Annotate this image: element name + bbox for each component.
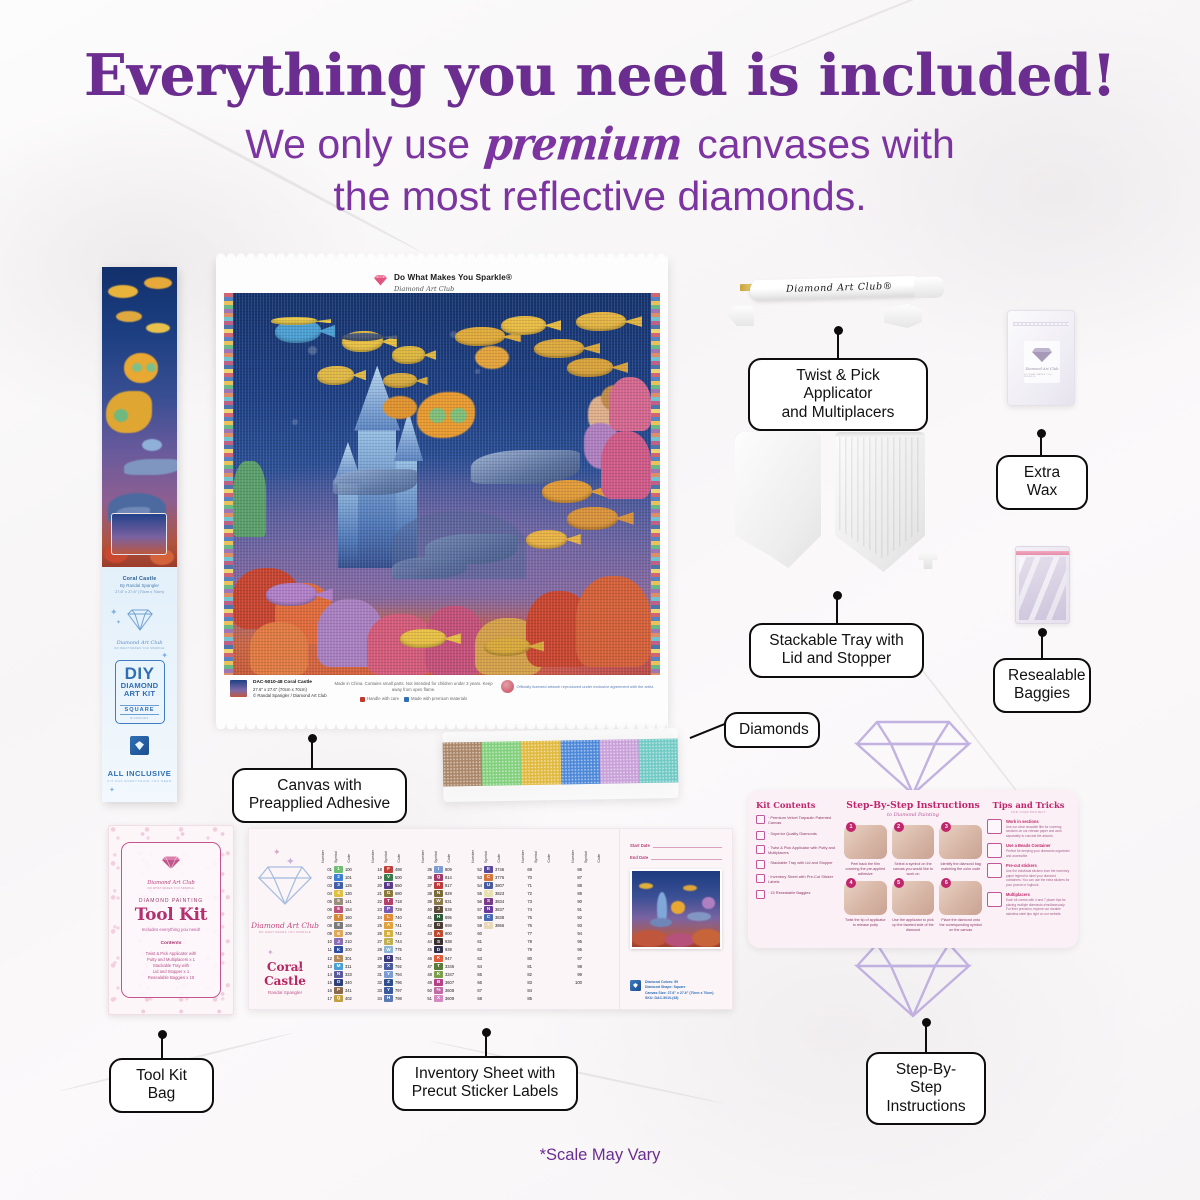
- table-row: 65: [471, 970, 513, 978]
- cell-number: 45: [421, 947, 432, 952]
- canvas-footer-info: DAC-5010-48 Coral Castle 27.6" x 27.6" (…: [224, 675, 660, 717]
- cell-symbol: K: [334, 946, 343, 953]
- cell-number: 38: [421, 891, 432, 896]
- cell-code: 3347: [445, 972, 461, 977]
- diamond-pack: [442, 731, 482, 802]
- inventory-table-block: NumberSymbolCode011100022101033126044130…: [321, 841, 363, 1009]
- kit-contents-column: Kit Contents · Premium Velvet Tarpaulin …: [756, 800, 844, 940]
- cell-symbol: J: [334, 938, 343, 945]
- canvas-brand: Diamond Art Club: [394, 285, 512, 293]
- premium-emphasis: premium: [478, 116, 688, 173]
- cell-symbol: [484, 955, 493, 962]
- kit-contents-item: · Twist & Pick Applicator with Putty and…: [756, 845, 840, 856]
- step-caption: Identify the diamond bag matching the co…: [939, 862, 982, 872]
- kit-contents-item: · Superior Quality Diamonds: [756, 831, 840, 840]
- cell-number: 62: [471, 947, 482, 952]
- canvas-sku-title: DAC-5010-48 Coral Castle: [253, 680, 327, 687]
- diamond-beads: [521, 740, 561, 787]
- kit-box-brand-logo: [120, 607, 160, 638]
- instruction-step: 6Place the diamond onto the correspondin…: [939, 881, 982, 933]
- cell-code: 798: [395, 996, 411, 1001]
- cell-code: 301: [345, 956, 361, 961]
- diamond-beads: [560, 739, 600, 786]
- column-header: Symbol: [434, 851, 445, 863]
- cell-number: 04: [321, 891, 332, 896]
- cell-number: 43: [421, 931, 432, 936]
- diamond-pack: [521, 730, 561, 801]
- column-header: Code: [597, 854, 613, 863]
- cell-code: 740: [395, 915, 411, 920]
- cell-symbol: [584, 866, 593, 873]
- kit-box-packaging: ✦ ✦ ✦ ✦ Coral Castle By Randal Spangler …: [102, 267, 177, 802]
- cell-number: 87: [571, 875, 582, 880]
- cell-code: 130: [345, 891, 361, 896]
- canvas-badge-2: Made with premium materials: [404, 696, 467, 702]
- table-row: 85: [521, 995, 563, 1003]
- table-row: 23P729: [371, 905, 413, 913]
- cell-code: 939: [445, 947, 461, 952]
- kit-item-label: · 15 Resealable Baggies: [768, 890, 810, 895]
- table-row: 68: [471, 995, 513, 1003]
- table-row: 50%3608: [421, 986, 463, 994]
- cell-number: 19: [371, 875, 382, 880]
- canvas-notice: Made in China. Contains small parts. Not…: [333, 681, 495, 694]
- cell-number: 26: [371, 931, 382, 936]
- cell-number: 16: [321, 988, 332, 993]
- cell-number: 42: [421, 923, 432, 928]
- table-row: 18F498: [371, 865, 413, 873]
- table-row: 71: [521, 881, 563, 889]
- tip-item: Pre-cut stickersUse the individual stick…: [987, 863, 1070, 887]
- end-date-row: End Date: [630, 853, 722, 860]
- cell-symbol: D: [434, 946, 443, 953]
- kit-item-icon: [756, 890, 765, 899]
- tool-kit-contents-line: Resealable Baggies x 15: [122, 975, 220, 981]
- table-row: 10J210: [321, 938, 363, 946]
- step-number: 5: [894, 878, 904, 888]
- column-header: Symbol: [534, 851, 545, 863]
- cell-code: 796: [395, 980, 411, 985]
- cell-symbol: P: [384, 906, 393, 913]
- inventory-table-header: NumberSymbolCode: [521, 841, 563, 863]
- multiplacer-right: [884, 304, 922, 328]
- instruction-step: 3Identify the diamond bag matching the c…: [939, 825, 982, 877]
- table-row: 76: [521, 922, 563, 930]
- table-row: 49B3607: [421, 978, 463, 986]
- kit-box-artist: By Randal Spangler: [102, 583, 177, 588]
- table-row: 35I809: [421, 865, 463, 873]
- cell-symbol: [534, 874, 543, 881]
- tip-body: Use the individual stickers from the inv…: [1006, 869, 1070, 887]
- table-row: 46K947: [421, 954, 463, 962]
- table-row: 44S938: [421, 938, 463, 946]
- cell-code: 839: [445, 907, 461, 912]
- cell-number: 84: [521, 988, 532, 993]
- cell-symbol: I: [434, 866, 443, 873]
- table-row: 69: [521, 865, 563, 873]
- tool-kit-contents-heading: Contents: [122, 941, 220, 946]
- cell-code: 791: [395, 956, 411, 961]
- cell-code: 154: [345, 907, 361, 912]
- cell-number: 95: [571, 939, 582, 944]
- footer-note: *Scale May Vary: [0, 1146, 1200, 1165]
- cell-symbol: [534, 955, 543, 962]
- cell-symbol: W: [434, 898, 443, 905]
- table-row: 16P341: [321, 986, 363, 994]
- cell-number: 27: [371, 939, 382, 944]
- cell-number: 22: [371, 899, 382, 904]
- table-row: 055141: [321, 897, 363, 905]
- canvas-footer-thumbnail: [230, 680, 247, 697]
- headline-subtitle-line-2: the most reflective diamonds.: [0, 170, 1200, 222]
- kit-item-label: · Stackable Tray with Lid and Stopper: [768, 860, 833, 865]
- cell-number: 75: [521, 915, 532, 920]
- cell-number: 47: [421, 964, 432, 969]
- cell-symbol: 6: [334, 906, 343, 913]
- cell-symbol: [584, 938, 593, 945]
- cell-symbol: Y: [384, 971, 393, 978]
- diamond-baggies-strip: [442, 728, 678, 802]
- cell-symbol: N: [434, 890, 443, 897]
- cell-symbol: [534, 898, 543, 905]
- tip-title: Multiplacers: [1006, 892, 1070, 897]
- step-number: 1: [846, 822, 856, 832]
- cell-symbol: [534, 938, 543, 945]
- diamond-pack: [638, 728, 678, 799]
- table-row: 93: [571, 922, 613, 930]
- kit-box-title: Coral Castle: [102, 576, 177, 582]
- table-row: 28W775: [371, 946, 413, 954]
- cell-number: 55: [471, 891, 482, 896]
- inventory-sheet-cover: ✦ ✦ ✦ ✦ Diamond Art Club DO WHAT MAKES Y…: [249, 829, 321, 1009]
- table-row: 75: [521, 914, 563, 922]
- inventory-table-block: NumberSymbolCode35I80936Q81437R81738N829…: [421, 841, 463, 1009]
- table-row: 87: [571, 873, 613, 881]
- cell-number: 17: [321, 996, 332, 1001]
- tip-item: Use a Beads ContainerPerfect for keeping…: [987, 843, 1070, 858]
- cell-symbol: [534, 946, 543, 953]
- headline-block: Everything you need is included! We only…: [0, 46, 1200, 223]
- cell-symbol: A: [434, 930, 443, 937]
- tip-body: Use our clear reusable film for covering…: [1006, 825, 1070, 838]
- cell-number: 69: [521, 867, 532, 872]
- applicator-body: Diamond Art Club®: [750, 276, 922, 301]
- step-by-step-instructions-sheet: Kit Contents · Premium Velvet Tarpaulin …: [748, 718, 1078, 1018]
- subtitle-text-before: We only use: [245, 121, 470, 167]
- table-row: 77: [521, 930, 563, 938]
- cell-code: 797: [395, 988, 411, 993]
- cell-code: 3866: [495, 923, 511, 928]
- column-header: Code: [347, 854, 363, 863]
- canvas-scallop-bottom: [216, 720, 668, 729]
- callout-stackable-tray: Stackable Tray with Lid and Stopper: [749, 623, 924, 678]
- inventory-table-block: NumberSymbolCode697071727374757677787980…: [521, 841, 563, 1009]
- cell-symbol: O: [384, 955, 393, 962]
- table-row: 91: [571, 905, 613, 913]
- leader-stackable-tray: [836, 595, 838, 625]
- cell-number: 67: [471, 988, 482, 993]
- cell-symbol: [584, 955, 593, 962]
- kit-contents-item: · Inventory Sheet with Pre-Cut Sticker L…: [756, 874, 840, 885]
- cell-symbol: A: [384, 922, 393, 929]
- cell-symbol: C: [384, 938, 393, 945]
- tip-title: Use a Beads Container: [1006, 843, 1070, 848]
- table-row: 52E3746: [471, 865, 513, 873]
- table-row: 54U3807: [471, 881, 513, 889]
- kit-contents-item: · Stackable Tray with Lid and Stopper: [756, 860, 840, 869]
- table-row: 12L301: [321, 954, 363, 962]
- cell-code: 895: [445, 915, 461, 920]
- cell-symbol: U: [484, 882, 493, 889]
- cell-symbol: X: [434, 995, 443, 1002]
- table-row: 22T718: [371, 897, 413, 905]
- table-row: 58C3838: [471, 914, 513, 922]
- cell-symbol: C: [484, 914, 493, 921]
- square-drill-chip: [130, 736, 149, 755]
- cell-number: 96: [571, 947, 582, 952]
- diamond-icon: [254, 863, 316, 912]
- cell-symbol: [584, 971, 593, 978]
- cell-number: 48: [421, 972, 432, 977]
- cell-number: 01: [321, 867, 332, 872]
- cell-code: 3837: [495, 907, 511, 912]
- cell-number: 65: [471, 972, 482, 977]
- cell-number: 97: [571, 956, 582, 961]
- tip-icon: [987, 863, 1002, 878]
- cell-code: 817: [445, 883, 461, 888]
- inventory-meta-line: Canvas Size: 27.6" x 27.6" (70cm x 70cm): [645, 991, 714, 996]
- cell-number: 33: [371, 988, 382, 993]
- baggie-zipper: [1016, 551, 1069, 555]
- inventory-table-header: NumberSymbolCode: [571, 841, 613, 863]
- kit-item-label: · Inventory Sheet with Pre-Cut Sticker L…: [768, 874, 840, 885]
- table-row: 62: [471, 946, 513, 954]
- instruction-step: 2Select a symbol on the canvas you would…: [892, 825, 935, 877]
- cell-code: 814: [445, 875, 461, 880]
- canvas-tagline: Do What Makes You Sparkle®: [394, 273, 512, 282]
- cell-symbol: [584, 979, 593, 986]
- cell-symbol: [534, 882, 543, 889]
- cell-number: 35: [421, 867, 432, 872]
- cell-symbol: X: [384, 963, 393, 970]
- leader-resealable-baggies: [1041, 632, 1043, 660]
- canvas-artist-credit: © Randal Spangler / Diamond Art Club: [253, 693, 327, 699]
- table-row: 64: [471, 962, 513, 970]
- table-row: 81: [521, 962, 563, 970]
- inventory-symbol-table: NumberSymbolCode011100022101033126044130…: [321, 829, 619, 1009]
- start-date-field[interactable]: [653, 841, 722, 848]
- cell-symbol: +: [484, 922, 493, 929]
- table-row: 60: [471, 930, 513, 938]
- callout-resealable-baggies: Resealable Baggies: [993, 658, 1091, 713]
- cell-code: 3807: [495, 883, 511, 888]
- cell-code: 729: [395, 907, 411, 912]
- cell-symbol: [484, 987, 493, 994]
- callout-tool-kit-bag: Tool Kit Bag: [109, 1058, 214, 1113]
- cell-symbol: Y: [384, 987, 393, 994]
- cell-number: 76: [521, 923, 532, 928]
- cell-code: 340: [345, 980, 361, 985]
- cell-number: 14: [321, 972, 332, 977]
- tool-kit-brand-tagline: DO WHAT MAKES YOU SPARKLE: [122, 887, 220, 890]
- cell-symbol: [534, 930, 543, 937]
- wax-pouch-zipper: [1013, 322, 1069, 326]
- page-title: Everything you need is included!: [0, 46, 1200, 106]
- cell-number: 28: [371, 947, 382, 952]
- table-row: 96: [571, 946, 613, 954]
- cell-code: 402: [345, 996, 361, 1001]
- start-date-label: Start Date: [630, 843, 650, 848]
- cell-symbol: [534, 995, 543, 1002]
- stackable-tray-group: [735, 432, 945, 582]
- cell-code: 333: [345, 972, 361, 977]
- step-caption: Peel back the film covering the pre-appl…: [844, 862, 887, 877]
- cell-number: 07: [321, 915, 332, 920]
- table-row: 022101: [321, 873, 363, 881]
- cell-number: 80: [521, 956, 532, 961]
- cell-number: 23: [371, 907, 382, 912]
- cell-number: 24: [371, 915, 382, 920]
- table-row: 27C744: [371, 938, 413, 946]
- cell-number: 44: [421, 939, 432, 944]
- tool-kit-contents-list: Twist & Pick Applicator withPutty and Mu…: [122, 951, 220, 981]
- cell-symbol: L: [334, 955, 343, 962]
- cell-code: 498: [395, 867, 411, 872]
- table-row: 33Y797: [371, 986, 413, 994]
- column-header: Number: [521, 850, 532, 863]
- table-row: 92: [571, 914, 613, 922]
- cell-number: 06: [321, 907, 332, 912]
- cell-code: 718: [395, 899, 411, 904]
- cell-symbol: [534, 866, 543, 873]
- cell-number: 100: [571, 980, 582, 985]
- cell-number: 66: [471, 980, 482, 985]
- cell-code: 160: [345, 915, 361, 920]
- table-row: 011100: [321, 865, 363, 873]
- inventory-table-block: NumberSymbolCode868788899091929394959697…: [571, 841, 613, 1009]
- cell-code: 550: [395, 883, 411, 888]
- cell-number: 79: [521, 947, 532, 952]
- cell-number: 59: [471, 923, 482, 928]
- cell-code: 744: [395, 939, 411, 944]
- diamond-icon: [160, 855, 182, 875]
- cell-symbol: [534, 922, 543, 929]
- tray-lid: [735, 432, 821, 568]
- table-row: 99: [571, 970, 613, 978]
- table-row: 94: [571, 930, 613, 938]
- table-row: 53C3776: [471, 873, 513, 881]
- inventory-meta-block: Diamond Colors: 59Diamond Shape: SquareC…: [630, 980, 714, 1001]
- cell-code: 680: [395, 891, 411, 896]
- cell-symbol: B: [384, 930, 393, 937]
- cell-symbol: [584, 946, 593, 953]
- cell-symbol: [534, 979, 543, 986]
- step-caption: Use the applicator to pick up the facete…: [892, 918, 935, 933]
- cell-code: 938: [445, 939, 461, 944]
- table-row: 21G680: [371, 889, 413, 897]
- end-date-field[interactable]: [651, 853, 722, 860]
- cell-symbol: [484, 930, 493, 937]
- table-row: 89: [571, 889, 613, 897]
- all-inclusive-label: ALL INCLUSIVE: [102, 769, 177, 778]
- cell-number: 56: [471, 899, 482, 904]
- tool-kit-bag-label: Diamond Art Club DO WHAT MAKES YOU SPARK…: [121, 842, 221, 998]
- cell-number: 83: [521, 980, 532, 985]
- cell-symbol: C: [484, 874, 493, 881]
- cell-symbol: F: [384, 866, 393, 873]
- tip-title: Pre-cut stickers: [1006, 863, 1070, 868]
- diamond-pack: [599, 729, 639, 800]
- table-row: 25A741: [371, 922, 413, 930]
- cell-number: 61: [471, 939, 482, 944]
- callout-canvas: Canvas with Preapplied Adhesive: [232, 768, 407, 823]
- kit-contents-heading: Kit Contents: [756, 800, 840, 810]
- table-row: 67: [471, 986, 513, 994]
- diamond-painting-canvas: Do What Makes You Sparkle® Diamond Art C…: [216, 258, 668, 724]
- canvas-underwater-scene: [233, 293, 651, 675]
- table-row: 95: [571, 938, 613, 946]
- table-row: 48K3347: [421, 970, 463, 978]
- table-row: 24L740: [371, 914, 413, 922]
- instruction-step: 1Peel back the film covering the pre-app…: [844, 825, 887, 877]
- tray-stopper: [918, 552, 938, 569]
- diamond-icon: [120, 607, 160, 633]
- cell-symbol: [584, 922, 593, 929]
- table-row: 14N333: [321, 970, 363, 978]
- headline-subtitle-line-1: We only use premium canvases with: [0, 118, 1200, 170]
- cell-number: 21: [371, 891, 382, 896]
- steps-subheading: to Diamond Painting: [844, 812, 982, 818]
- cell-number: 92: [571, 915, 582, 920]
- cell-code: 300: [345, 947, 361, 952]
- canvas-color-key-left: [224, 293, 233, 675]
- table-row: 29O791: [371, 954, 413, 962]
- table-row: 38N829: [421, 889, 463, 897]
- leader-canvas: [311, 738, 313, 770]
- table-row: 077160: [321, 914, 363, 922]
- table-row: 43A900: [421, 930, 463, 938]
- cell-code: 3776: [495, 875, 511, 880]
- table-row: 11K300: [321, 946, 363, 954]
- table-row: 15O340: [321, 978, 363, 986]
- cell-number: 11: [321, 947, 332, 952]
- table-row: 66: [471, 978, 513, 986]
- cell-number: 49: [421, 980, 432, 985]
- cell-number: 46: [421, 956, 432, 961]
- tray-lip: [835, 432, 925, 437]
- cell-code: 168: [345, 923, 361, 928]
- column-header: Code: [447, 854, 463, 863]
- diy-badge-shape-sub: DIAMONDS: [118, 717, 162, 720]
- table-row: 56S3834: [471, 897, 513, 905]
- cell-code: 126: [345, 883, 361, 888]
- callout-diamonds: Diamonds: [724, 712, 820, 748]
- kit-contents-item: · 15 Resealable Baggies: [756, 890, 840, 899]
- cell-number: 64: [471, 964, 482, 969]
- tips-subheading: FOR YOUR PROJECT: [987, 810, 1070, 814]
- column-header: Number: [321, 850, 332, 863]
- kit-item-label: · Superior Quality Diamonds: [768, 831, 817, 836]
- diamond-outline-icon-bottom: [849, 940, 977, 1018]
- inventory-table-block: NumberSymbolCode52E374653C377654U380755*…: [471, 841, 513, 1009]
- cell-number: 54: [471, 883, 482, 888]
- cell-number: 94: [571, 931, 582, 936]
- table-row: 61: [471, 938, 513, 946]
- tool-kit-tagline: Includes everything you need!: [122, 927, 220, 932]
- table-row: 17Q402: [321, 995, 363, 1003]
- cell-number: 05: [321, 899, 332, 904]
- inventory-meta-line: SKU: DAC-5010-(48): [645, 996, 714, 1001]
